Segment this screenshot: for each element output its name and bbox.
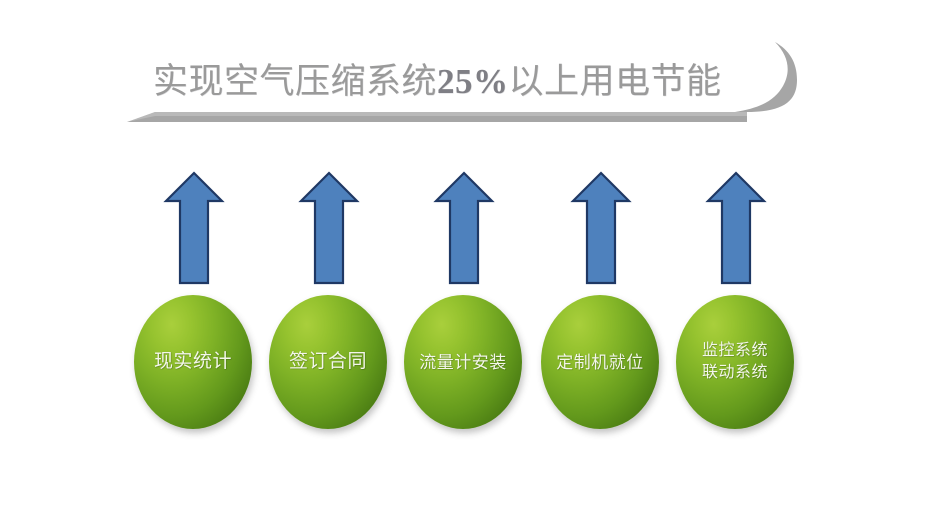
arrow-up-icon-3 xyxy=(433,170,495,286)
title-text-before: 实现空气压缩系统 xyxy=(153,62,437,101)
title-highlight-number: 25% xyxy=(437,62,509,101)
arrow-up-icon-4 xyxy=(570,170,632,286)
arrow-up-icon-5 xyxy=(705,170,767,286)
title-text-after: 以上用电节能 xyxy=(509,62,722,101)
process-node-4[interactable]: 定制机就位 xyxy=(541,295,659,429)
arrow-up-icon-2 xyxy=(298,170,360,286)
page-title: 实现空气压缩系统25%以上用电节能 xyxy=(153,54,753,110)
process-node-2[interactable]: 签订合同 xyxy=(269,295,387,429)
process-node-label-5: 监控系统 联动系统 xyxy=(702,340,768,384)
title-block: 实现空气压缩系统25%以上用电节能 xyxy=(125,38,805,148)
process-node-label-4: 定制机就位 xyxy=(556,351,644,374)
process-node-label-1: 现实统计 xyxy=(154,350,232,374)
slide-canvas: 实现空气压缩系统25%以上用电节能 现实统计 签订合同 流量计安装 定制机就位 … xyxy=(0,0,945,529)
arrow-up-icon-1 xyxy=(163,170,225,286)
process-node-label-3: 流量计安装 xyxy=(419,351,507,374)
title-bar-highlight xyxy=(127,112,747,122)
process-node-3[interactable]: 流量计安装 xyxy=(404,295,522,429)
process-node-label-2: 签订合同 xyxy=(289,350,367,374)
process-node-5[interactable]: 监控系统 联动系统 xyxy=(676,295,794,429)
process-node-1[interactable]: 现实统计 xyxy=(134,295,252,429)
title-underline-bar xyxy=(127,112,747,122)
